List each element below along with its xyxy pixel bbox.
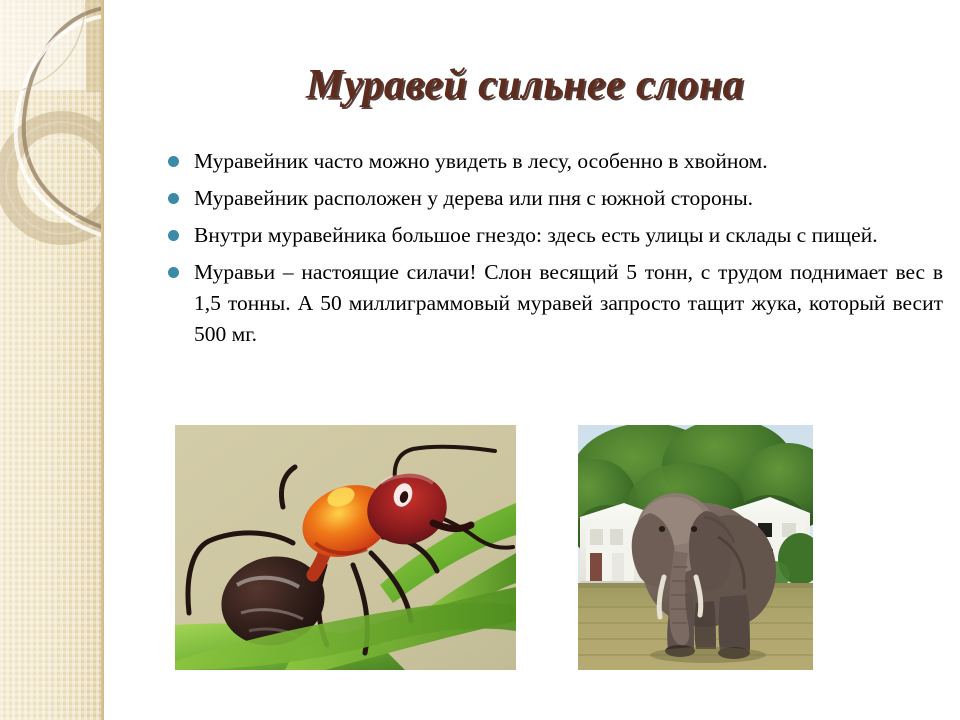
- bullet-dot-icon: [168, 267, 179, 278]
- slide: Муравей сильнее слона Муравейник часто м…: [0, 0, 960, 720]
- list-item: Муравейник расположен у дерева или пня с…: [168, 183, 943, 214]
- list-item-text: Муравейник часто можно увидеть в лесу, о…: [194, 146, 943, 177]
- bullet-list: Муравейник часто можно увидеть в лесу, о…: [168, 146, 943, 356]
- bullet-dot-icon: [168, 230, 179, 241]
- page-title: Муравей сильнее слона: [130, 60, 920, 110]
- bullet-dot-icon: [168, 156, 179, 167]
- bullet-dot-icon: [168, 193, 179, 204]
- list-item-text: Муравьи – настоящие силачи! Слон весящий…: [194, 257, 943, 350]
- ant-photo: [175, 425, 516, 670]
- list-item: Внутри муравейника большое гнездо: здесь…: [168, 220, 943, 251]
- list-item: Муравейник часто можно увидеть в лесу, о…: [168, 146, 943, 177]
- elephant-photo: [578, 425, 813, 670]
- image-row: [0, 425, 960, 671]
- list-item: Муравьи – настоящие силачи! Слон весящий…: [168, 257, 943, 350]
- list-item-text: Внутри муравейника большое гнездо: здесь…: [194, 220, 943, 251]
- list-item-text: Муравейник расположен у дерева или пня с…: [194, 183, 943, 214]
